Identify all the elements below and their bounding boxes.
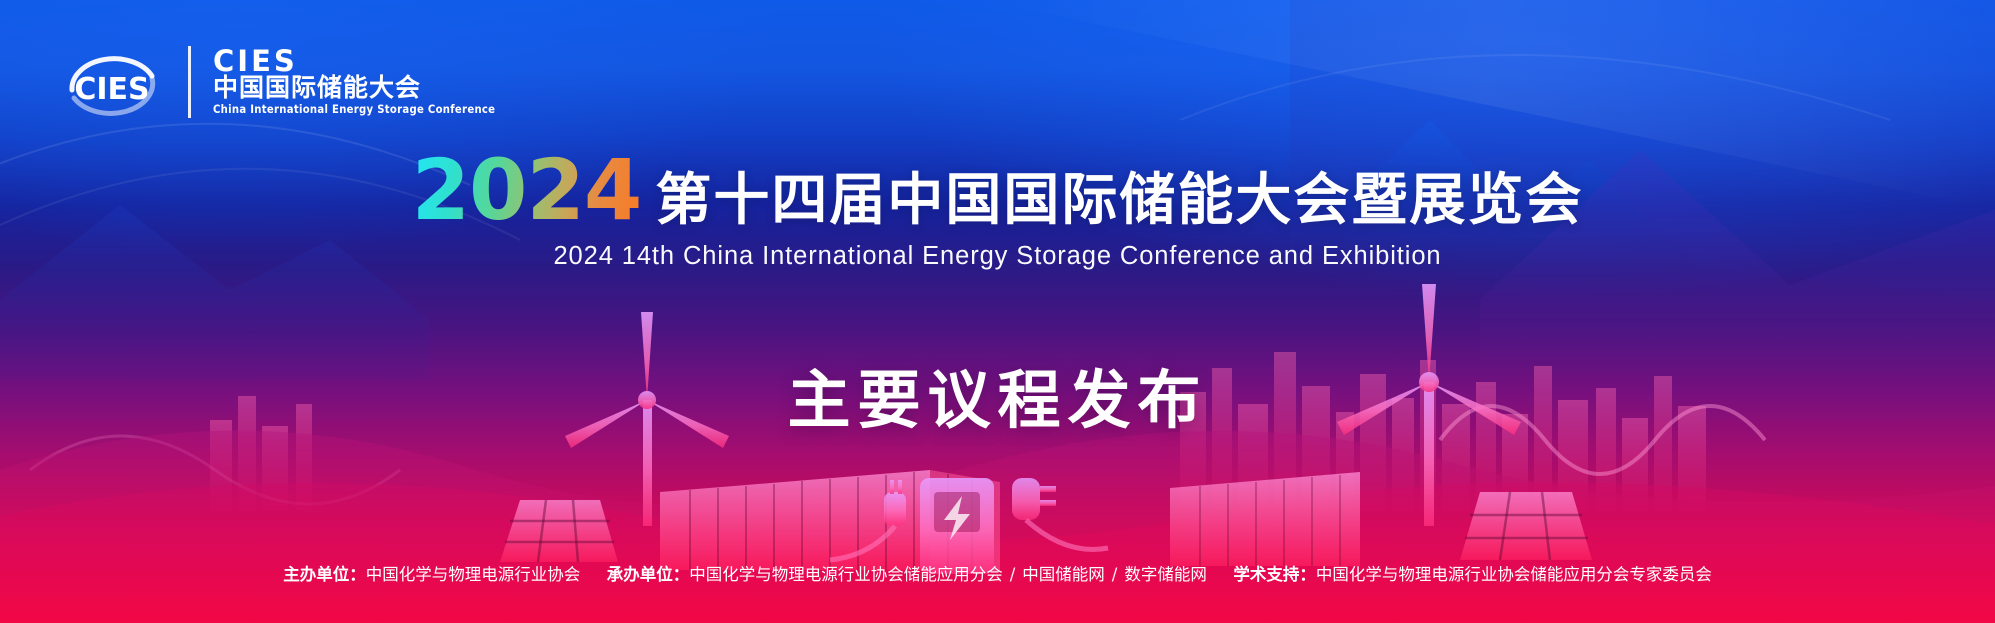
charging-plug-right [1012, 478, 1108, 549]
conference-title-cn: 第十四届中国国际储能大会暨展览会 [655, 173, 1583, 229]
logo-brand-cn: 中国国际储能大会 [213, 75, 495, 101]
logo-divider [188, 46, 191, 118]
host-value-2: 数字储能网 [1124, 565, 1207, 584]
support-label: 学术支持： [1233, 565, 1316, 584]
cies-logo-mark: CIES [58, 36, 166, 128]
support-value: 中国化学与物理电源行业协会储能应用分会专家委员会 [1316, 565, 1712, 584]
conference-title-en: 2024 14th China International Energy Sto… [0, 242, 1995, 271]
year-2024: 2024 [412, 152, 642, 229]
host-separator-1: / [1003, 565, 1023, 584]
title-row: 2024 第十四届中国国际储能大会暨展览会 [0, 152, 1995, 229]
ev-charger [920, 478, 994, 574]
charging-plug-left [830, 480, 906, 560]
solar-panel-right [1460, 492, 1592, 560]
headline-agenda-release: 主要议程发布 [0, 350, 1995, 441]
host-separator-2: / [1105, 565, 1125, 584]
host-value-0: 中国化学与物理电源行业协会储能应用分会 [689, 565, 1003, 584]
host-label: 承办单位： [607, 565, 690, 584]
title-block: 2024 第十四届中国国际储能大会暨展览会 2024 14th China In… [0, 152, 1995, 271]
battery-container-right [1170, 472, 1360, 566]
battery-container-left [660, 470, 1000, 572]
conference-banner: CIES CIES 中国国际储能大会 China International E… [0, 0, 1995, 623]
host-value-1: 中国储能网 [1022, 565, 1105, 584]
cies-logo: CIES CIES 中国国际储能大会 China International E… [58, 36, 495, 128]
svg-text:CIES: CIES [74, 72, 149, 107]
logo-brand-sub-en: China International Energy Storage Confe… [213, 104, 495, 116]
organizer-value: 中国化学与物理电源行业协会 [366, 565, 581, 584]
footer-credits: 主办单位：中国化学与物理电源行业协会 承办单位：中国化学与物理电源行业协会储能应… [0, 565, 1995, 585]
solar-panel-left [500, 500, 618, 562]
organizer-label: 主办单位： [283, 565, 366, 584]
logo-brand-en: CIES [213, 47, 495, 72]
